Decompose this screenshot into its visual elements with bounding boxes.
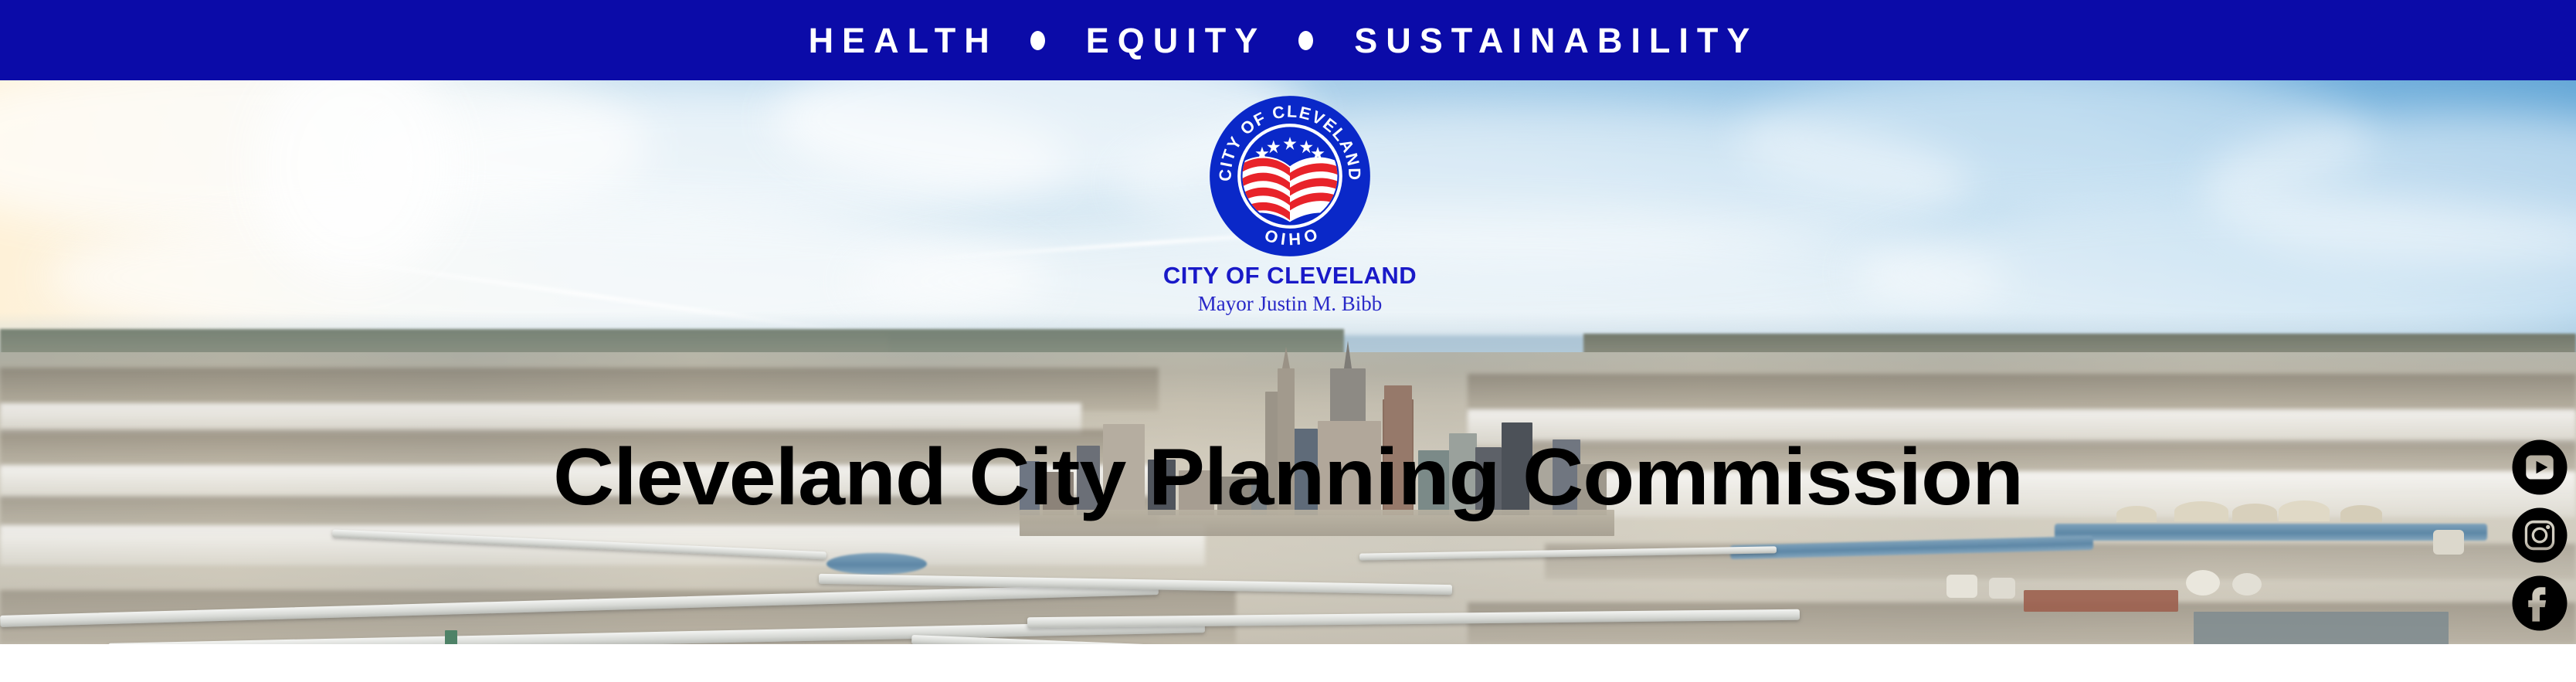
church-spire [445, 630, 457, 644]
city-of-cleveland-seal-icon: CITY OF CLEVELAND OHIO [1208, 94, 1372, 258]
storage-tank [2232, 573, 2262, 595]
terminal-tower-spire [1282, 347, 1290, 368]
tagline-word-health: HEALTH [809, 23, 998, 58]
key-tower-spire [1344, 341, 1352, 368]
youtube-icon[interactable] [2511, 439, 2568, 496]
tagline-banner-inner: HEALTH EQUITY SUSTAINABILITY [809, 23, 1759, 58]
storage-tank [2186, 570, 2220, 595]
bullet-dot-icon [1030, 31, 1045, 50]
industrial-band [1468, 374, 2576, 414]
logo-title: CITY OF CLEVELAND [1135, 263, 1444, 289]
page-root: HEALTH EQUITY SUSTAINABILITY [0, 0, 2576, 682]
tagline-banner: HEALTH EQUITY SUSTAINABILITY [0, 0, 2576, 80]
construction-building [2194, 612, 2449, 644]
logo-subtitle: Mayor Justin M. Bibb [1135, 293, 1444, 314]
red-brick-warehouse [2024, 590, 2178, 612]
tagline-word-equity: EQUITY [1086, 23, 1267, 58]
facebook-icon[interactable] [2511, 575, 2568, 632]
storage-tank [1989, 578, 2015, 599]
retention-pond [826, 553, 927, 575]
instagram-icon[interactable] [2511, 507, 2568, 564]
bullet-dot-icon [1298, 31, 1313, 50]
page-title: Cleveland City Planning Commission [0, 437, 2576, 517]
hero-photo: CITY OF CLEVELAND OHIO CITY OF CLEVELAND… [0, 80, 2576, 644]
cuyahoga-river [2055, 524, 2487, 541]
storage-tank [1946, 575, 1977, 598]
storage-tank [2433, 530, 2464, 555]
social-links [2511, 439, 2571, 643]
footer-white-strip [0, 644, 2576, 682]
city-logo[interactable]: CITY OF CLEVELAND OHIO CITY OF CLEVELAND… [1135, 94, 1444, 318]
tagline-word-sustainability: SUSTAINABILITY [1354, 23, 1758, 58]
